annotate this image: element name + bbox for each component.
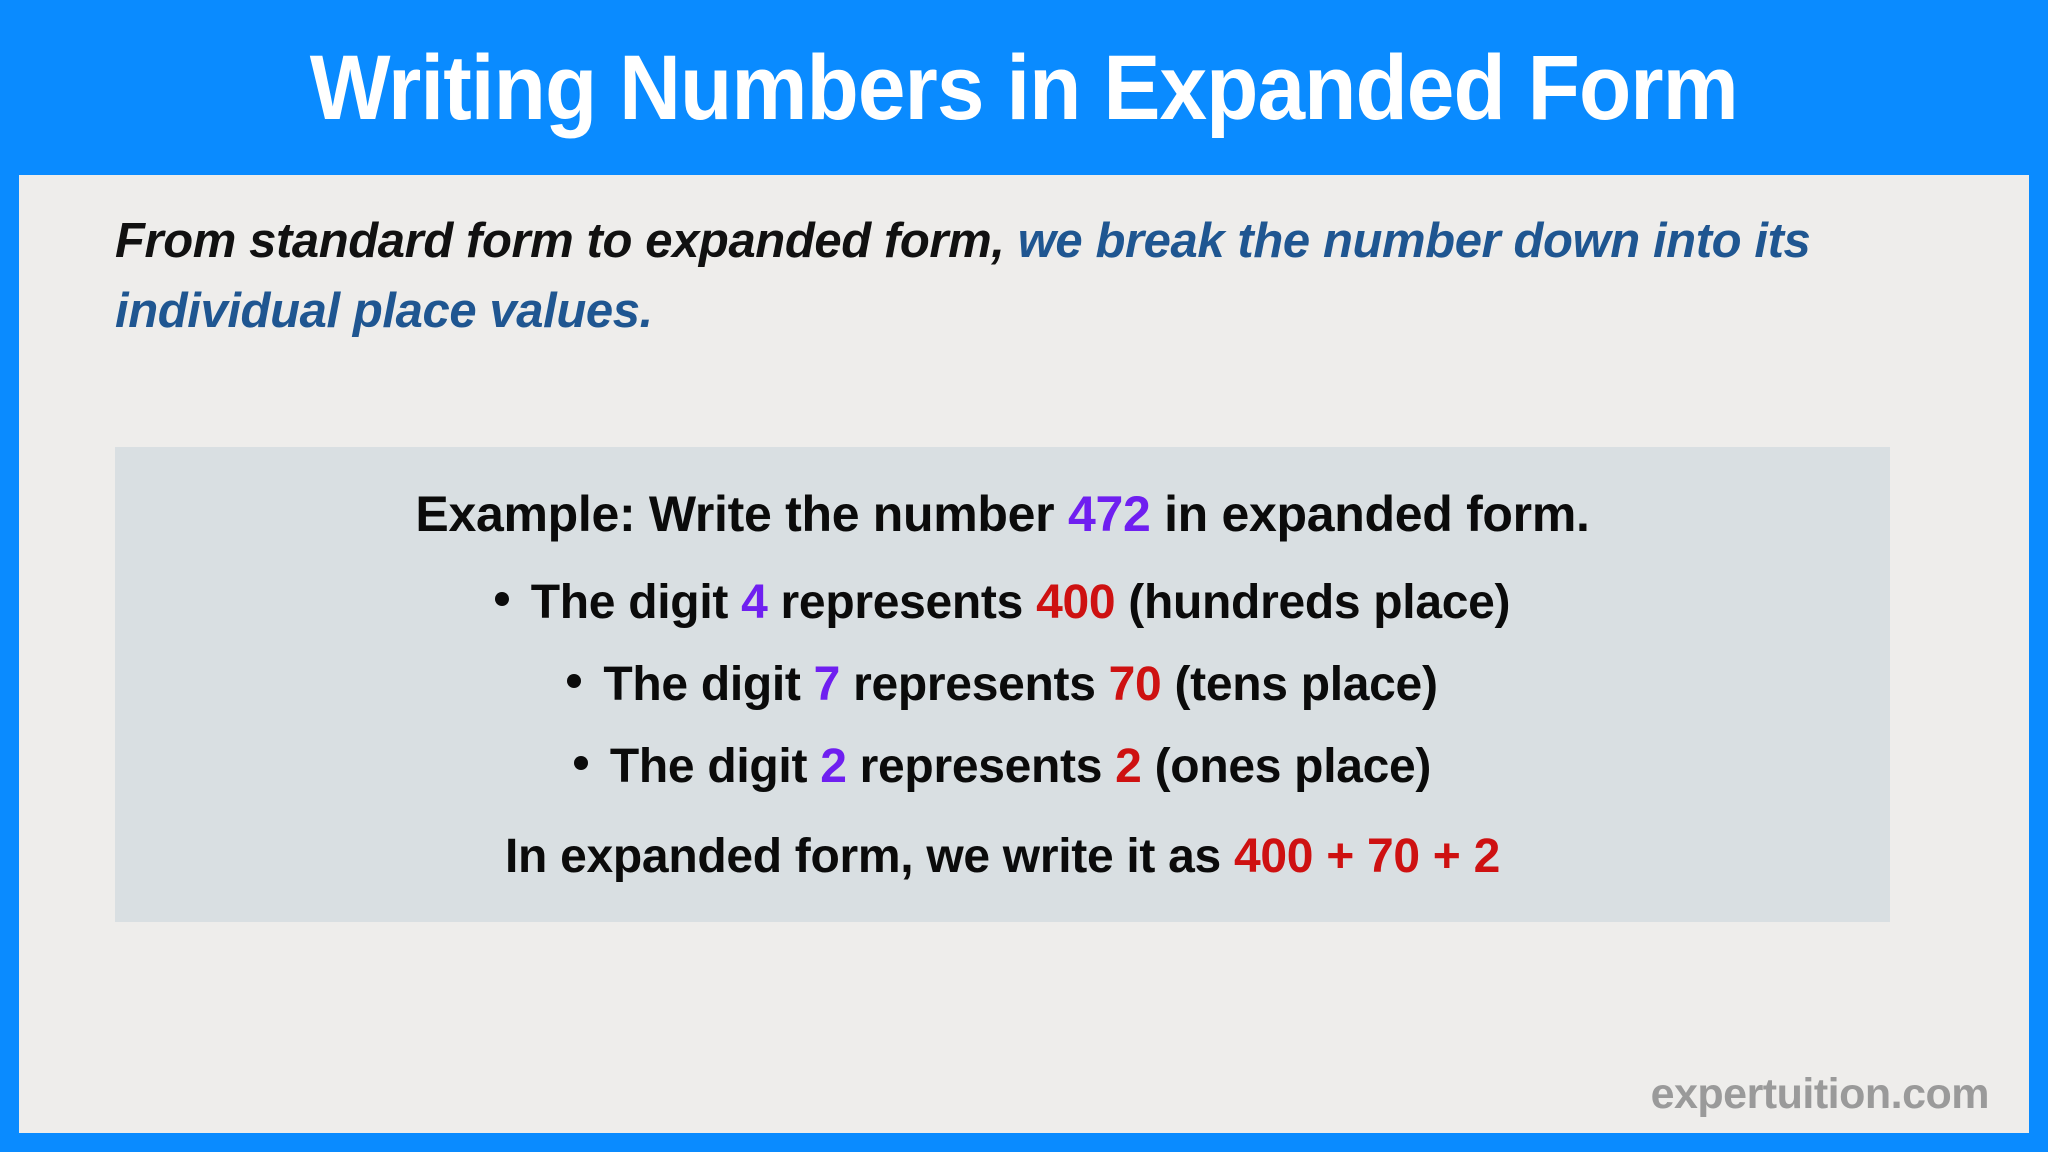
bullet-middle: represents	[860, 740, 1102, 793]
bullet-middle: represents	[853, 658, 1095, 711]
bullet-dot-icon	[495, 592, 509, 606]
bullet-prefix: The digit	[610, 740, 807, 793]
bullet-dot-icon	[567, 674, 581, 688]
conclusion-line: In expanded form, we write it as 400 + 7…	[115, 829, 1890, 884]
body-panel: From standard form to expanded form, we …	[19, 175, 2029, 1133]
bullet-digit: 7	[814, 658, 840, 711]
bullet-prefix: The digit	[603, 658, 800, 711]
poster-root: Writing Numbers in Expanded Form From st…	[0, 0, 2048, 1152]
conclusion-before: In expanded form, we write it as	[505, 830, 1221, 883]
conclusion-expression: 400 + 70 + 2	[1234, 830, 1500, 883]
example-heading: Example: Write the number 472 in expande…	[115, 485, 1890, 543]
example-heading-after: in expanded form.	[1164, 486, 1590, 542]
bullet-value: 400	[1036, 576, 1115, 629]
place-value-list: The digit 4 represents 400 (hundreds pla…	[115, 575, 1890, 821]
lead-paragraph: From standard form to expanded form, we …	[115, 207, 1905, 346]
bullet-value: 2	[1115, 740, 1141, 793]
bullet-value: 70	[1109, 658, 1162, 711]
bullet-digit: 4	[741, 576, 767, 629]
list-item: The digit 2 represents 2 (ones place)	[115, 739, 1890, 821]
bullet-prefix: The digit	[531, 576, 728, 629]
page-title: Writing Numbers in Expanded Form	[310, 42, 1738, 134]
bullet-suffix: (tens place)	[1174, 658, 1437, 711]
bullet-suffix: (ones place)	[1155, 740, 1431, 793]
watermark: expertuition.com	[1651, 1070, 1989, 1119]
lead-black-text: From standard form to expanded form,	[115, 214, 1004, 268]
bullet-middle: represents	[781, 576, 1023, 629]
list-item-text: The digit 2 represents 2 (ones place)	[610, 739, 1431, 794]
bullet-digit: 2	[820, 740, 846, 793]
bullet-suffix: (hundreds place)	[1128, 576, 1510, 629]
header-banner: Writing Numbers in Expanded Form	[0, 0, 2048, 175]
list-item: The digit 4 represents 400 (hundreds pla…	[115, 575, 1890, 657]
list-item-text: The digit 7 represents 70 (tens place)	[603, 657, 1437, 712]
bullet-dot-icon	[574, 756, 588, 770]
example-heading-before: Example: Write the number	[415, 486, 1054, 542]
example-number: 472	[1068, 486, 1151, 542]
list-item-text: The digit 4 represents 400 (hundreds pla…	[531, 575, 1510, 630]
example-card: Example: Write the number 472 in expande…	[115, 447, 1890, 922]
list-item: The digit 7 represents 70 (tens place)	[115, 657, 1890, 739]
